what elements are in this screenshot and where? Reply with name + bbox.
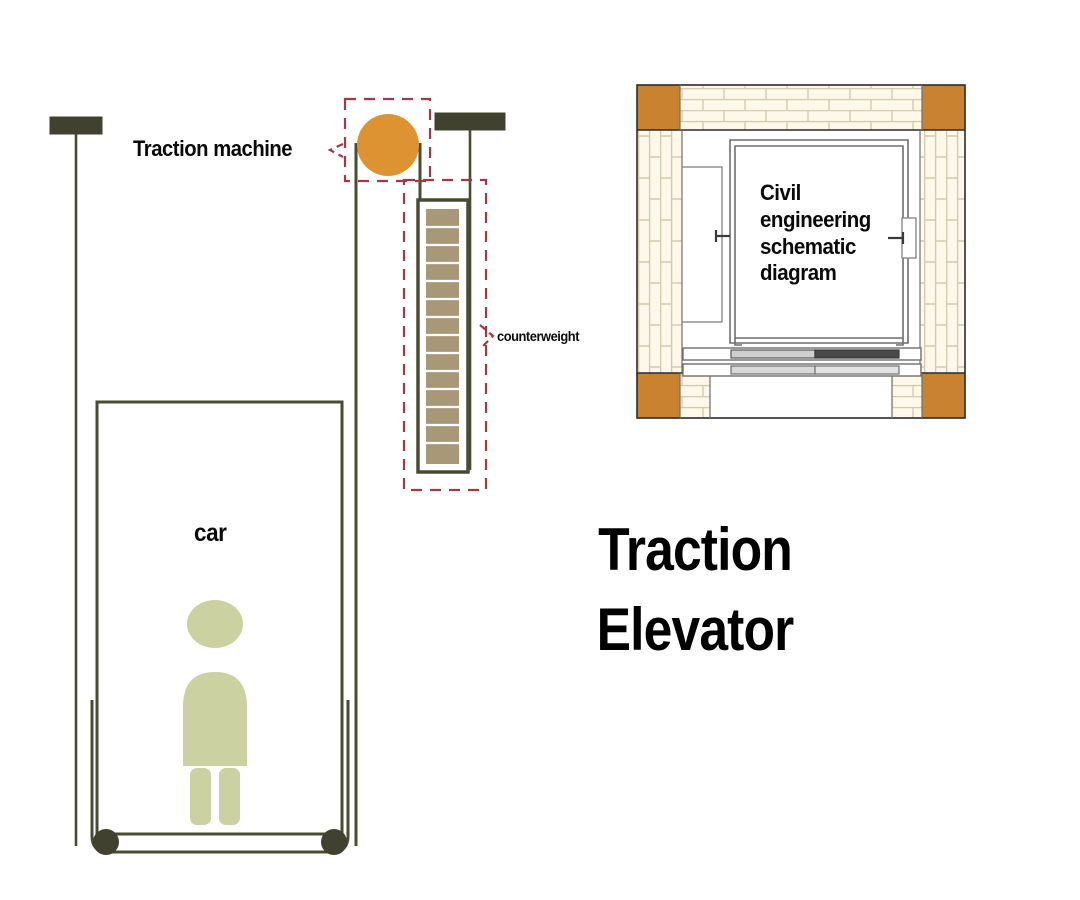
passenger-head	[187, 600, 243, 648]
corner-column-top-left	[637, 85, 680, 130]
door-panel-3	[731, 366, 815, 374]
corner-column-bottom-right	[922, 373, 965, 418]
diagram-canvas	[0, 0, 1080, 900]
title-line-2: Elevator	[562, 590, 829, 670]
rail-cap-left	[50, 117, 102, 134]
corner-column-bottom-left	[637, 373, 680, 418]
door-panel-2	[815, 350, 899, 358]
door-panel-1	[731, 350, 815, 358]
car-wheel-right	[321, 829, 347, 855]
rail-cap-right	[435, 113, 505, 130]
passenger-torso	[183, 672, 247, 766]
label-car: car	[194, 521, 226, 546]
diagram-title: Traction Elevator	[562, 510, 829, 670]
doorway-opening	[710, 373, 892, 418]
title-line-1: Traction	[562, 510, 829, 590]
traction-sheave-pulley	[357, 114, 419, 176]
door-panel-4	[815, 366, 899, 374]
corner-column-top-right	[922, 85, 965, 130]
label-civil-engineering-schematic-diagram: Civil engineering schematic diagram	[760, 180, 871, 287]
guide-rail-left	[50, 117, 102, 846]
wall-left-brick	[637, 130, 682, 373]
wall-top-brick	[637, 85, 965, 130]
counterweight-assembly	[418, 200, 468, 472]
wall-right-brick	[920, 130, 965, 373]
car-wheel-left	[93, 829, 119, 855]
label-traction-machine: Traction machine	[133, 138, 292, 160]
label-counterweight: counterweight	[497, 329, 579, 343]
counterweight-blocks	[426, 209, 459, 464]
traction-machine-leader-arrow	[330, 144, 343, 157]
passenger-leg-left	[190, 768, 211, 825]
passenger-leg-right	[219, 768, 240, 825]
elevation-view	[50, 99, 505, 855]
guide-bracket-left	[682, 167, 722, 322]
